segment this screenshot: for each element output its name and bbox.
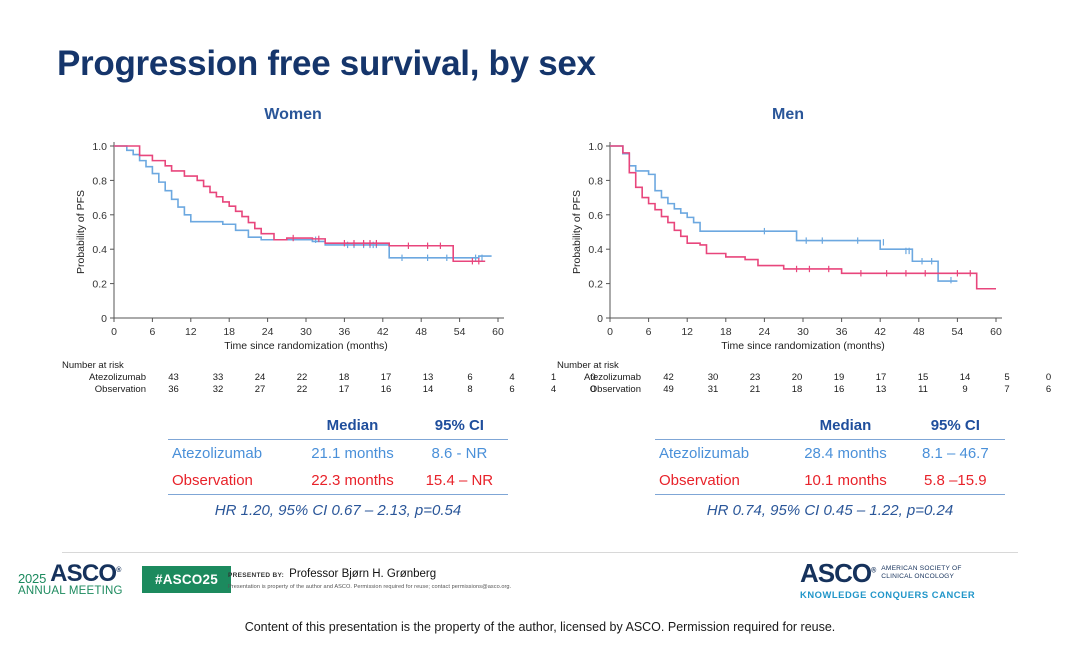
risk-row-values: 4230232019171514500 — [645, 372, 1080, 383]
risk-value: 6 — [1028, 384, 1069, 395]
stats-arm-observation-women: Observation — [168, 467, 294, 495]
km-curve — [114, 146, 485, 261]
stats-ci-observation-women: 15.4 – NR — [411, 467, 508, 495]
risk-value: 14 — [944, 372, 986, 383]
x-tick-label: 54 — [454, 326, 466, 338]
stats-header-blank-men — [655, 412, 785, 440]
x-tick-label: 36 — [339, 326, 351, 338]
risk-value: 36 — [150, 384, 197, 395]
x-tick-label: 24 — [262, 326, 274, 338]
risk-row-label: Observation — [557, 384, 645, 395]
risk-value: 33 — [197, 372, 239, 383]
risk-value: 0 — [1028, 372, 1069, 383]
risk-row: Atezolizumab4230232019171514500 — [557, 371, 1080, 383]
x-tick-label: 18 — [223, 326, 235, 338]
y-tick-label: 0.8 — [92, 175, 107, 187]
y-axis-label: Probability of PFS — [571, 190, 583, 274]
y-tick-label: 0.6 — [92, 210, 107, 222]
stats-header-ci-men: 95% CI — [906, 412, 1005, 440]
x-tick-label: 24 — [759, 326, 771, 338]
stats-table-women: Median 95% CI Atezolizumab 21.1 months 8… — [168, 412, 508, 519]
risk-value: 2 — [1069, 384, 1080, 395]
presented-by-label: PRESENTED BY: — [228, 572, 284, 579]
risk-rows-men: Atezolizumab4230232019171514500Observati… — [557, 371, 1080, 395]
risk-value: 32 — [197, 384, 239, 395]
km-chart-women: 00.20.40.60.81.006121824303642485460Time… — [58, 128, 528, 368]
risk-value: 18 — [323, 372, 365, 383]
x-tick-label: 30 — [797, 326, 809, 338]
risk-value: 11 — [902, 384, 944, 395]
km-curve — [114, 146, 492, 258]
risk-row-label: Observation — [62, 384, 150, 395]
risk-value: 15 — [902, 372, 944, 383]
y-tick-label: 0.8 — [588, 175, 603, 187]
risk-row-values: 363227221716148640 — [150, 384, 612, 395]
km-chart-men: 00.20.40.60.81.006121824303642485460Time… — [548, 128, 1028, 368]
risk-value: 9 — [944, 384, 986, 395]
risk-value: 22 — [281, 372, 323, 383]
stats-header-median-men: Median — [785, 412, 905, 440]
risk-value: 5 — [986, 372, 1028, 383]
risk-row-label: Atezolizumab — [557, 372, 645, 383]
risk-value: 7 — [986, 384, 1028, 395]
risk-heading-women: Number at risk — [62, 360, 612, 371]
stats-row-observation-men: Observation 10.1 months 5.8 –15.9 — [655, 467, 1005, 495]
stats-median-atezolizumab-men: 28.4 months — [785, 440, 905, 468]
y-tick-label: 0.2 — [92, 279, 107, 291]
risk-value: 14 — [407, 384, 449, 395]
asco-annual-meeting-logo: 2025 ASCO® ANNUAL MEETING — [18, 563, 138, 597]
risk-row-label: Atezolizumab — [62, 372, 150, 383]
asco-society-subtitle: AMERICAN SOCIETY OF CLINICAL ONCOLOGY — [881, 565, 961, 581]
x-tick-label: 42 — [874, 326, 886, 338]
stats-ci-atezolizumab-women: 8.6 - NR — [411, 440, 508, 468]
asco-society-logo: ASCO® AMERICAN SOCIETY OF CLINICAL ONCOL… — [800, 560, 975, 600]
panel-men: Men 00.20.40.60.81.006121824303642485460… — [548, 106, 1028, 368]
risk-value: 42 — [645, 372, 692, 383]
asco-logo-year: 2025 — [18, 571, 46, 586]
hazard-ratio-women: HR 1.20, 95% CI 0.67 – 2.13, p=0.54 — [168, 495, 508, 519]
stats-header-row-men: Median 95% CI — [655, 412, 1005, 440]
km-chart-men-svg: 00.20.40.60.81.006121824303642485460Time… — [548, 128, 1028, 368]
risk-value: 43 — [150, 372, 197, 383]
x-tick-label: 12 — [185, 326, 197, 338]
hashtag-badge: #ASCO25 — [142, 566, 231, 593]
stats-header-row-women: Median 95% CI — [168, 412, 508, 440]
stats-median-atezolizumab-women: 21.1 months — [294, 440, 411, 468]
stats-header-median-women: Median — [294, 412, 411, 440]
slide: Progression free survival, by sex Women … — [0, 0, 1080, 648]
risk-value: 4 — [491, 372, 533, 383]
stats-row-atezolizumab-men: Atezolizumab 28.4 months 8.1 – 46.7 — [655, 440, 1005, 468]
km-chart-women-svg: 00.20.40.60.81.006121824303642485460Time… — [58, 128, 528, 368]
x-tick-label: 0 — [111, 326, 117, 338]
risk-value: 30 — [692, 372, 734, 383]
stats-ci-observation-men: 5.8 –15.9 — [906, 467, 1005, 495]
stats-row-atezolizumab-women: Atezolizumab 21.1 months 8.6 - NR — [168, 440, 508, 468]
risk-value: 13 — [407, 372, 449, 383]
risk-value: 17 — [323, 384, 365, 395]
x-tick-label: 30 — [300, 326, 312, 338]
risk-table-men: Number at risk Atezolizumab4230232019171… — [557, 360, 1080, 395]
stats-table-men-grid: Median 95% CI Atezolizumab 28.4 months 8… — [655, 412, 1005, 495]
x-tick-label: 48 — [913, 326, 925, 338]
x-tick-label: 18 — [720, 326, 732, 338]
y-tick-label: 0 — [597, 313, 603, 325]
panel-title-women: Women — [58, 106, 528, 124]
x-tick-label: 6 — [149, 326, 155, 338]
asco-tagline: KNOWLEDGE CONQUERS CANCER — [800, 589, 975, 600]
stats-table-women-grid: Median 95% CI Atezolizumab 21.1 months 8… — [168, 412, 508, 495]
risk-value: 8 — [449, 384, 491, 395]
risk-value: 49 — [645, 384, 692, 395]
x-tick-label: 60 — [492, 326, 504, 338]
risk-value: 19 — [818, 372, 860, 383]
risk-value: 24 — [239, 372, 281, 383]
hazard-ratio-men: HR 0.74, 95% CI 0.45 – 1.22, p=0.24 — [655, 495, 1005, 519]
footer-divider — [62, 552, 1018, 553]
presenter-name: Professor Bjørn H. Grønberg — [289, 568, 436, 580]
risk-value: 17 — [365, 372, 407, 383]
asco-logo-word: ASCO® — [50, 563, 121, 586]
slide-caption: Content of this presentation is the prop… — [0, 620, 1080, 634]
asco-society-mark: ASCO® — [800, 560, 875, 586]
stats-header-blank-women — [168, 412, 294, 440]
panel-title-men: Men — [548, 106, 1028, 124]
risk-row-values: 433324221817136410 — [150, 372, 612, 383]
risk-row: Observation363227221716148640 — [62, 383, 612, 395]
risk-value: 22 — [281, 384, 323, 395]
stats-median-observation-men: 10.1 months — [785, 467, 905, 495]
risk-value: 16 — [365, 384, 407, 395]
risk-value: 20 — [776, 372, 818, 383]
x-tick-label: 42 — [377, 326, 389, 338]
stats-arm-observation-men: Observation — [655, 467, 785, 495]
stats-median-observation-women: 22.3 months — [294, 467, 411, 495]
y-axis-label: Probability of PFS — [75, 190, 87, 274]
panel-women: Women 00.20.40.60.81.0061218243036424854… — [58, 106, 528, 368]
risk-value: 16 — [818, 384, 860, 395]
risk-value: 0 — [1069, 372, 1080, 383]
y-tick-label: 0.4 — [588, 244, 603, 256]
risk-heading-men: Number at risk — [557, 360, 1080, 371]
risk-value: 27 — [239, 384, 281, 395]
presented-by-block: PRESENTED BY: Professor Bjørn H. Grønber… — [228, 568, 511, 590]
stats-arm-atezolizumab-men: Atezolizumab — [655, 440, 785, 468]
risk-table-women: Number at risk Atezolizumab4333242218171… — [62, 360, 612, 395]
x-tick-label: 0 — [607, 326, 613, 338]
risk-value: 21 — [734, 384, 776, 395]
x-tick-label: 6 — [646, 326, 652, 338]
y-tick-label: 1.0 — [92, 141, 107, 153]
stats-ci-atezolizumab-men: 8.1 – 46.7 — [906, 440, 1005, 468]
x-axis-label: Time since randomization (months) — [721, 340, 885, 352]
page-title: Progression free survival, by sex — [57, 44, 596, 84]
risk-row: Observation493121181613119762 — [557, 383, 1080, 395]
x-tick-label: 54 — [952, 326, 964, 338]
x-tick-label: 48 — [415, 326, 427, 338]
permission-notice: Presentation is property of the author a… — [228, 584, 511, 590]
x-tick-label: 36 — [836, 326, 848, 338]
stats-header-ci-women: 95% CI — [411, 412, 508, 440]
stats-table-men: Median 95% CI Atezolizumab 28.4 months 8… — [655, 412, 1005, 519]
x-tick-label: 60 — [990, 326, 1002, 338]
risk-value: 31 — [692, 384, 734, 395]
risk-value: 6 — [491, 384, 533, 395]
x-tick-label: 12 — [681, 326, 693, 338]
x-axis-label: Time since randomization (months) — [224, 340, 388, 352]
asco-logo-annual-meeting: ANNUAL MEETING — [18, 585, 138, 597]
risk-row: Atezolizumab433324221817136410 — [62, 371, 612, 383]
risk-rows-women: Atezolizumab433324221817136410Observatio… — [62, 371, 612, 395]
risk-value: 23 — [734, 372, 776, 383]
risk-value: 17 — [860, 372, 902, 383]
stats-row-observation-women: Observation 22.3 months 15.4 – NR — [168, 467, 508, 495]
stats-arm-atezolizumab-women: Atezolizumab — [168, 440, 294, 468]
y-tick-label: 0 — [101, 313, 107, 325]
risk-value: 13 — [860, 384, 902, 395]
y-tick-label: 0.4 — [92, 244, 107, 256]
risk-value: 18 — [776, 384, 818, 395]
y-tick-label: 1.0 — [588, 141, 603, 153]
risk-value: 6 — [449, 372, 491, 383]
risk-row-values: 493121181613119762 — [645, 384, 1080, 395]
y-tick-label: 0.2 — [588, 279, 603, 291]
y-tick-label: 0.6 — [588, 210, 603, 222]
